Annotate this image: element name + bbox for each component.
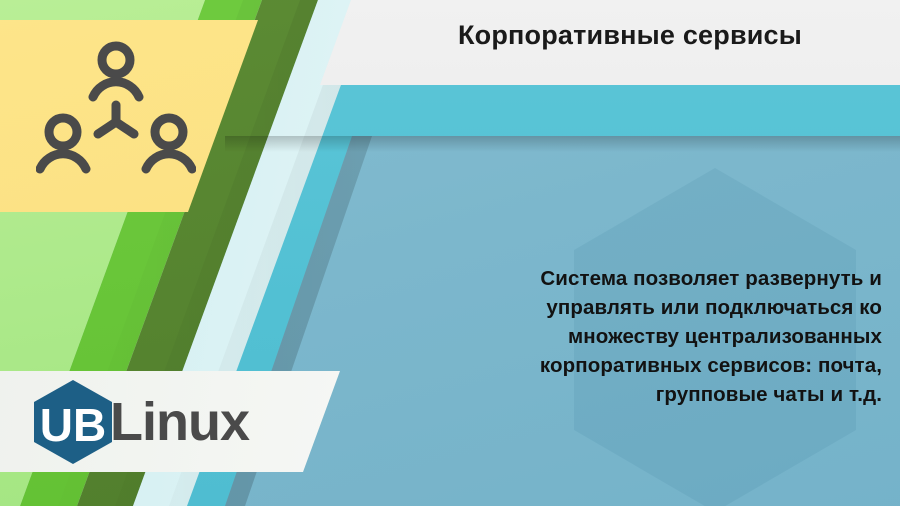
svg-text:UB: UB [40, 399, 106, 451]
page-title: Корпоративные сервисы [360, 20, 900, 51]
ub-hexagon-icon: UB [30, 378, 116, 466]
brand-logo: UB Linux [30, 378, 249, 466]
slide-canvas: Корпоративные сервисы Система позволяет … [0, 0, 900, 506]
brand-wordmark: Linux [110, 395, 249, 449]
users-network-icon [36, 40, 196, 190]
body-paragraph: Система позволяет развернуть и управлять… [462, 264, 882, 409]
